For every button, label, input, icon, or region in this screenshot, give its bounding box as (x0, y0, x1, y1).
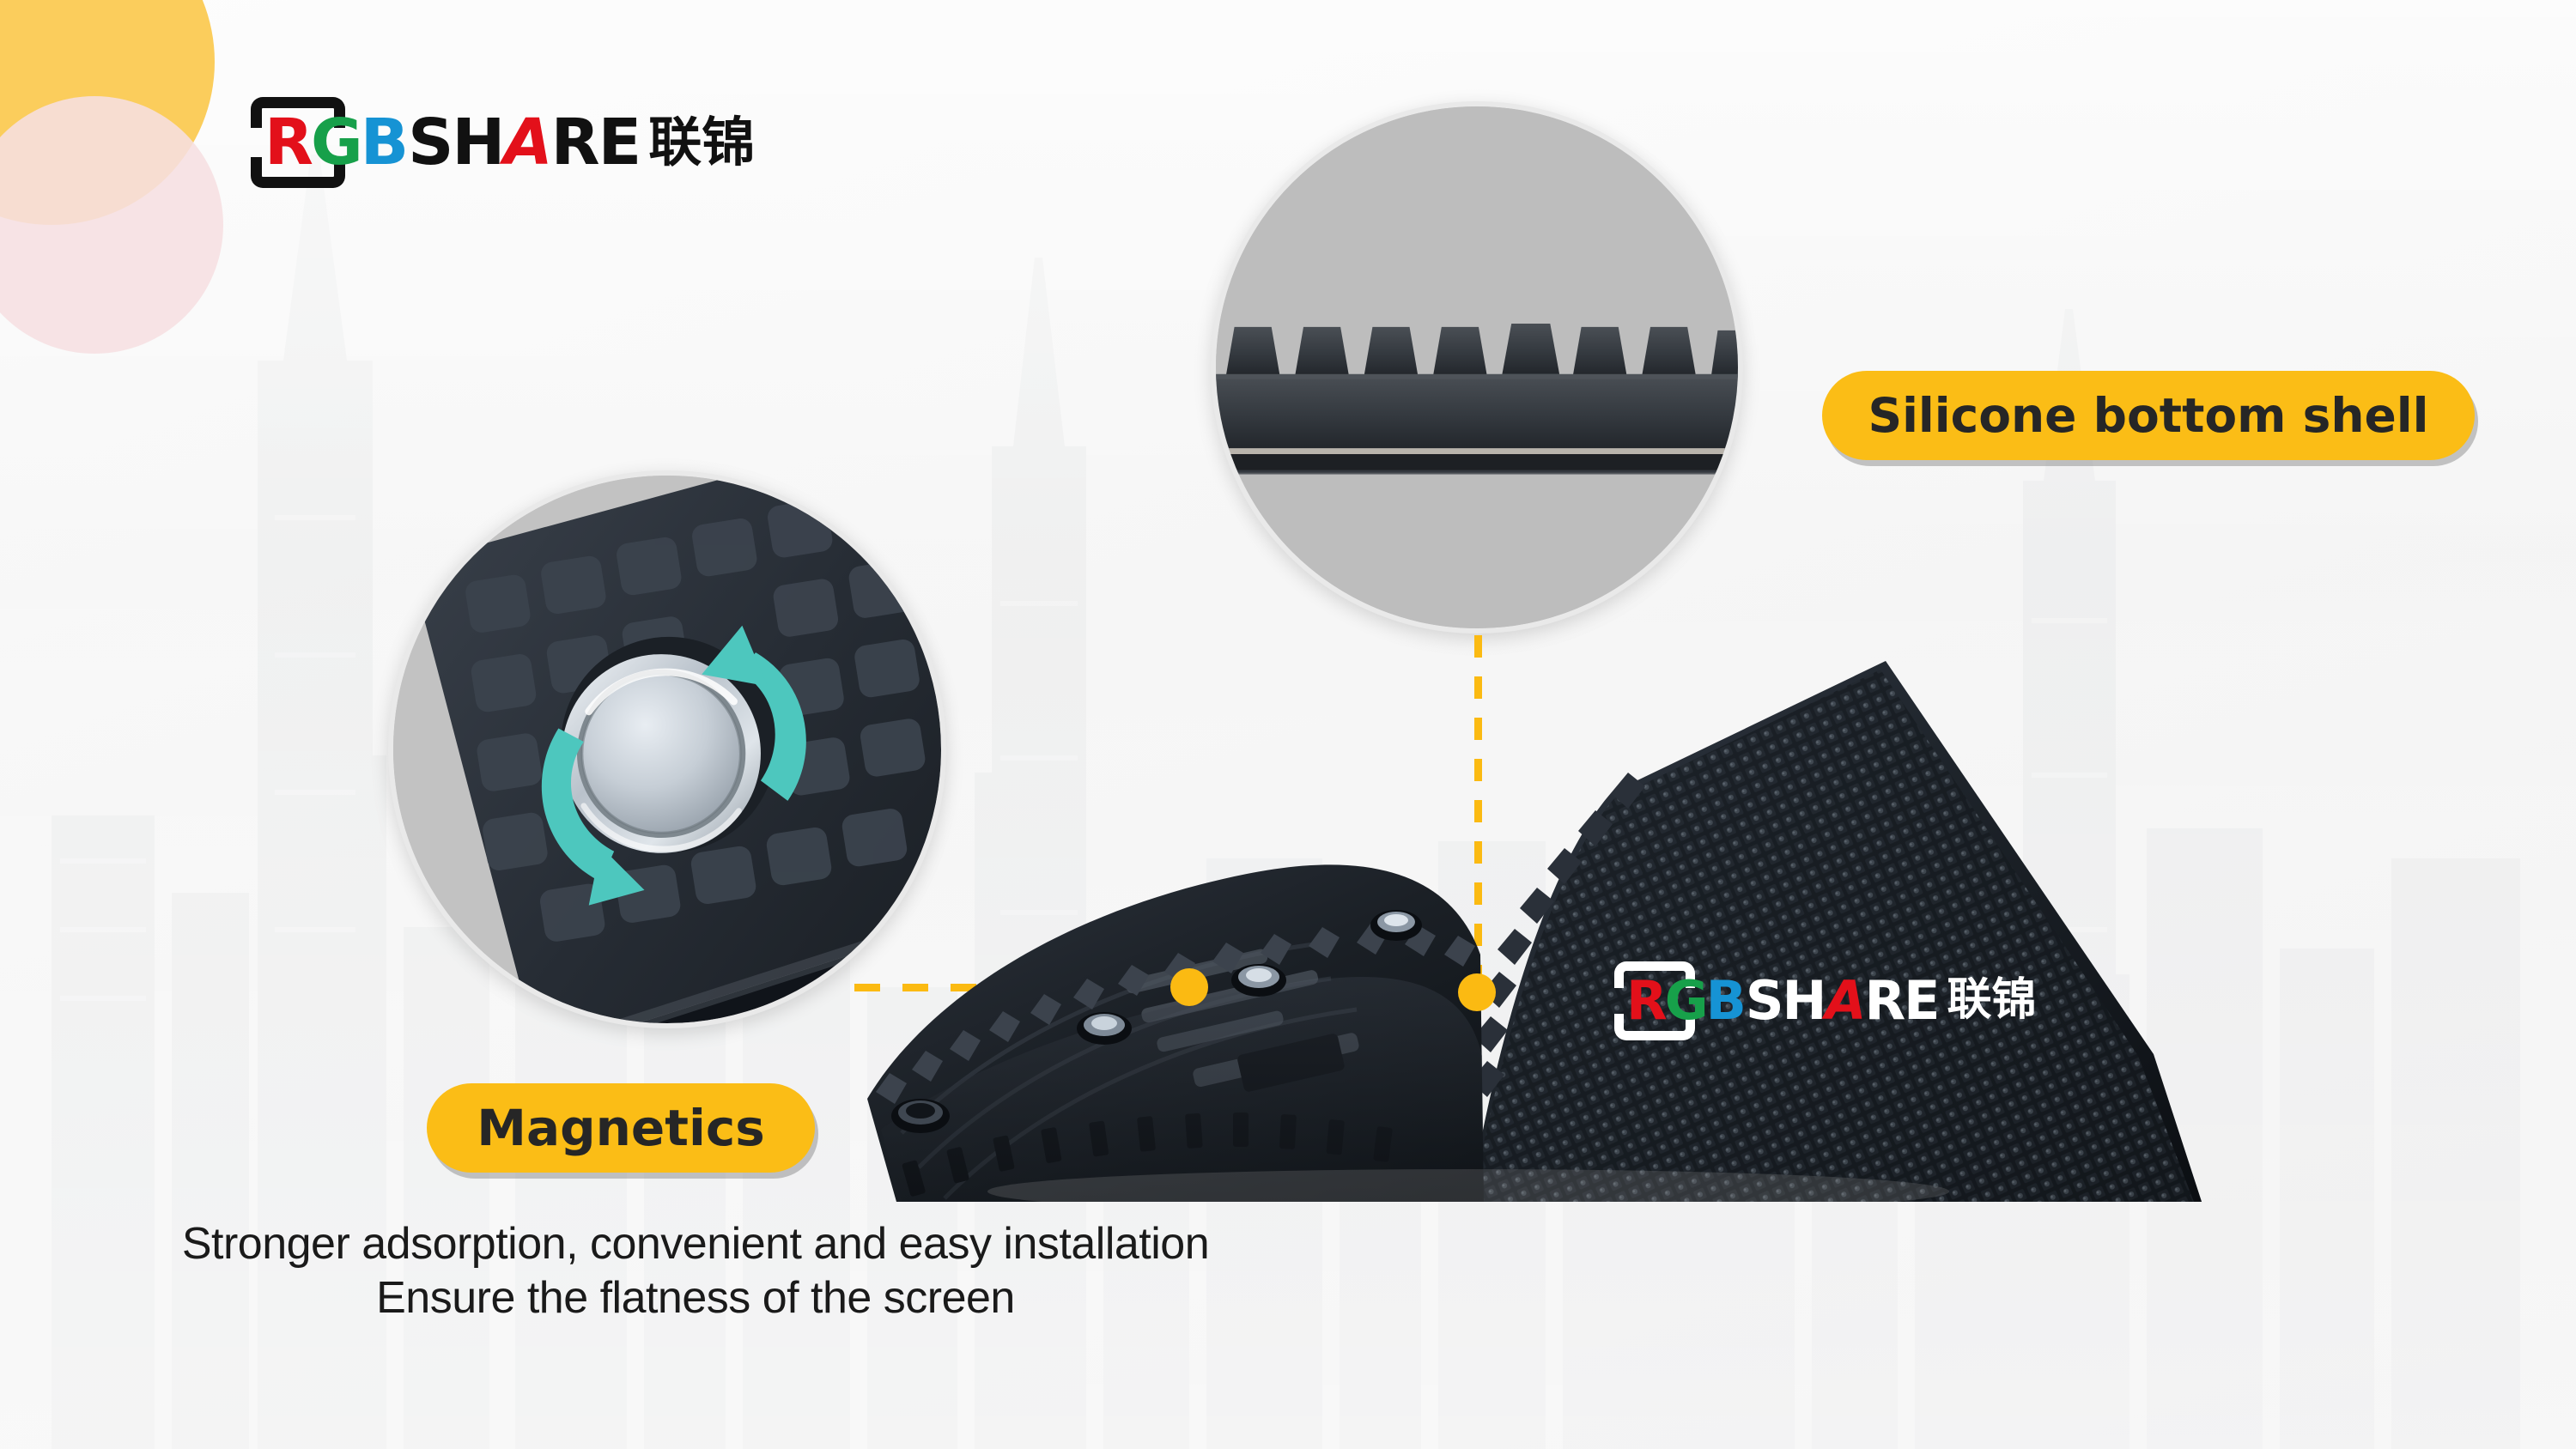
logo-share-suffix: RE (1864, 969, 1938, 1032)
logo-letter-g: G (311, 106, 361, 179)
logo-share-accent-a: A (1825, 969, 1864, 1032)
logo-letter-b: B (1706, 969, 1744, 1032)
label-magnetics: Magnetics (427, 1083, 815, 1173)
brand-logo-watermark: RGB SHARE 联锦 (1614, 961, 2037, 1040)
banner-canvas: RGB SHARE 联锦 (0, 0, 2576, 1449)
logo-share-prefix: SH (1746, 969, 1826, 1032)
logo-rgb-text: RGB (264, 111, 406, 174)
logo-share-suffix: RE (551, 106, 641, 179)
caption-line-2: Ensure the flatness of the screen (129, 1271, 1262, 1325)
connector-node-silicone (1458, 973, 1496, 1011)
feature-caption: Stronger adsorption, convenient and easy… (129, 1217, 1262, 1326)
logo-letter-r: R (264, 106, 311, 179)
label-silicone-bottom-shell: Silicone bottom shell (1822, 371, 2475, 460)
logo-letter-g: G (1665, 969, 1706, 1032)
logo-share-prefix: SH (408, 106, 503, 179)
label-magnetics-text: Magnetics (477, 1099, 765, 1157)
logo-letter-r: R (1626, 969, 1665, 1032)
label-silicone-text: Silicone bottom shell (1868, 388, 2428, 443)
logo-chinese-text: 联锦 (648, 113, 755, 172)
inset-silicone-bottom-shell (1211, 101, 1743, 634)
logo-rgb-text: RGB (1626, 974, 1744, 1028)
logo-chinese-text: 联锦 (1947, 976, 2037, 1025)
product-image-flexible-led-module (867, 652, 2207, 1202)
inset-magnet-closeup (388, 470, 946, 1028)
connector-node-magnetics (1170, 968, 1208, 1006)
logo-share-text: SHARE (408, 111, 640, 174)
brand-logo: RGB SHARE 联锦 (251, 96, 755, 189)
logo-share-text: SHARE (1746, 974, 1939, 1028)
logo-share-accent-a: A (503, 106, 550, 179)
logo-letter-b: B (361, 106, 406, 179)
caption-line-1: Stronger adsorption, convenient and easy… (129, 1217, 1262, 1271)
